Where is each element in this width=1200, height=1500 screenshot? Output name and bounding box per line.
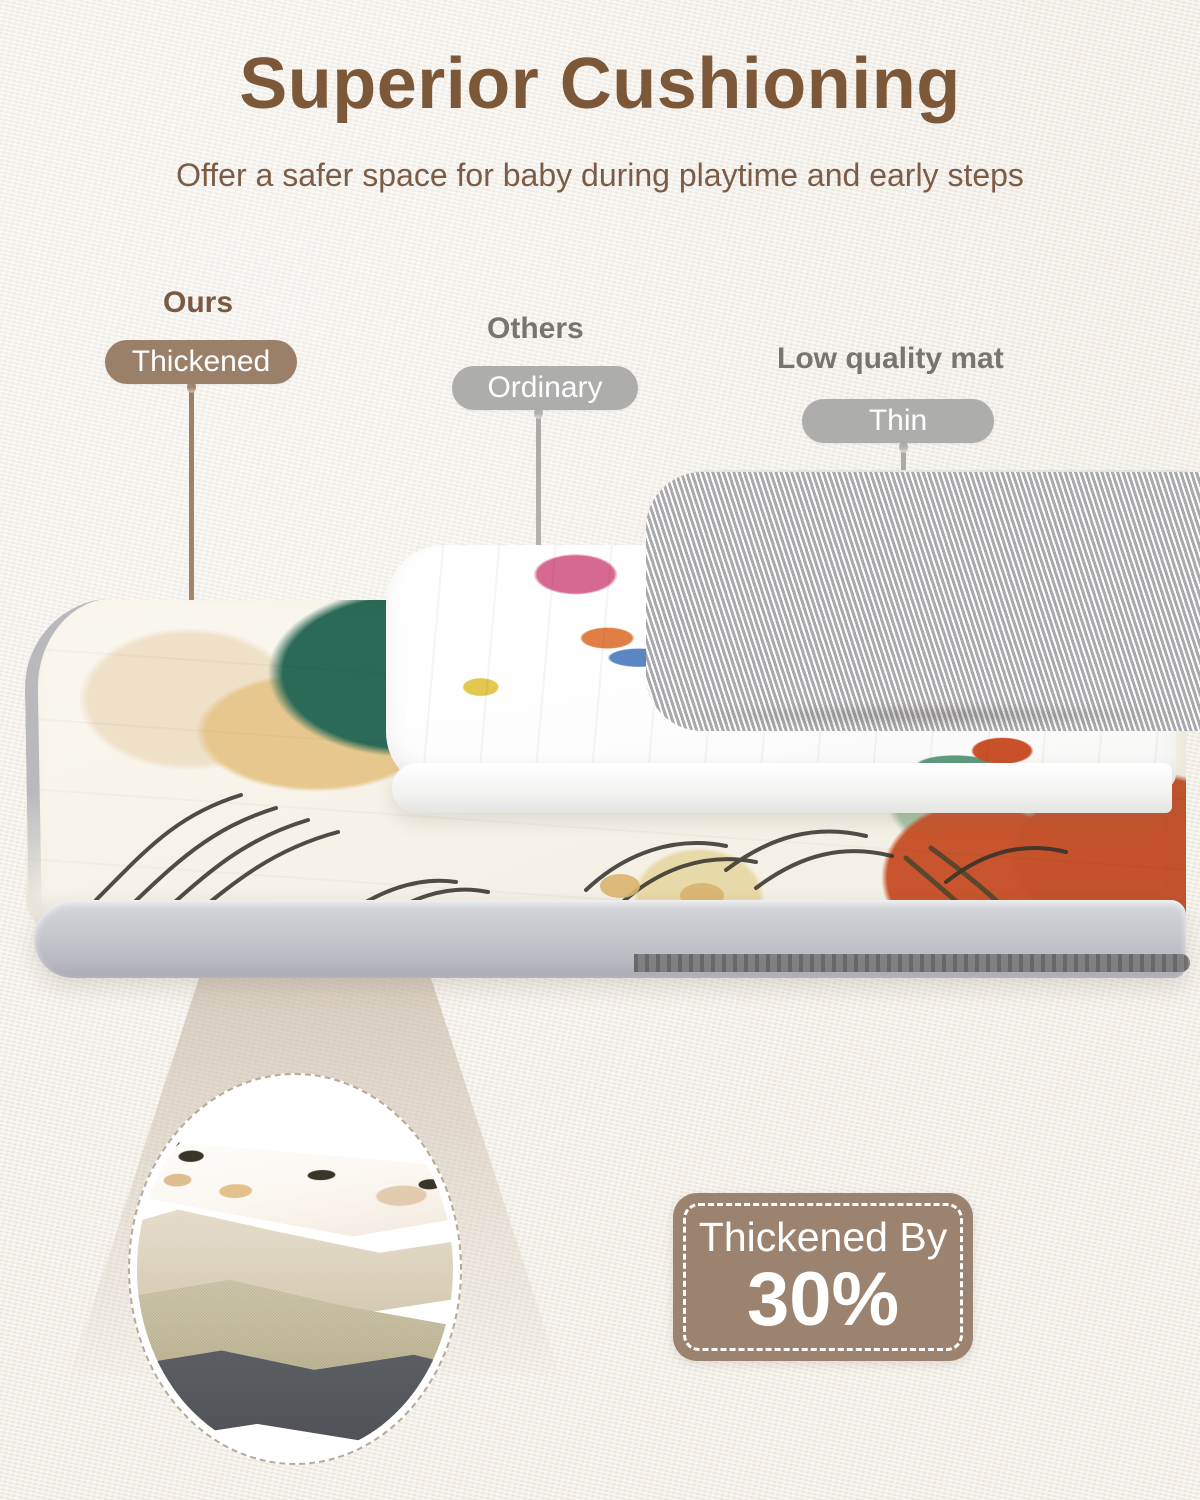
others-mat-side-thickness — [392, 763, 1172, 813]
page-title: Superior Cushioning — [0, 48, 1200, 120]
column-label-low-quality: Low quality mat — [777, 344, 1004, 374]
column-label-others: Others — [487, 314, 584, 344]
comparison-stage: Superior Cushioning Offer a safer space … — [0, 0, 1200, 1500]
badge-line-2: 30% — [747, 1262, 899, 1338]
page-subtitle: Offer a safer space for baby during play… — [0, 158, 1200, 193]
ours-mat-side-thickness — [34, 900, 1186, 978]
pill-ordinary: Ordinary — [452, 366, 638, 410]
badge-line-1: Thickened By — [699, 1217, 947, 1258]
thickened-by-badge: Thickened By 30% — [673, 1193, 973, 1361]
pill-thickened: Thickened — [105, 340, 297, 384]
pill-thin: Thin — [802, 399, 994, 443]
low-quality-thin-mat — [636, 470, 1200, 760]
low-mat-dropshadow — [670, 706, 1194, 728]
cross-section-detail — [128, 1073, 462, 1465]
inset-content — [137, 1082, 453, 1456]
low-mat-surface — [654, 470, 1200, 708]
column-label-ours: Ours — [163, 288, 233, 318]
